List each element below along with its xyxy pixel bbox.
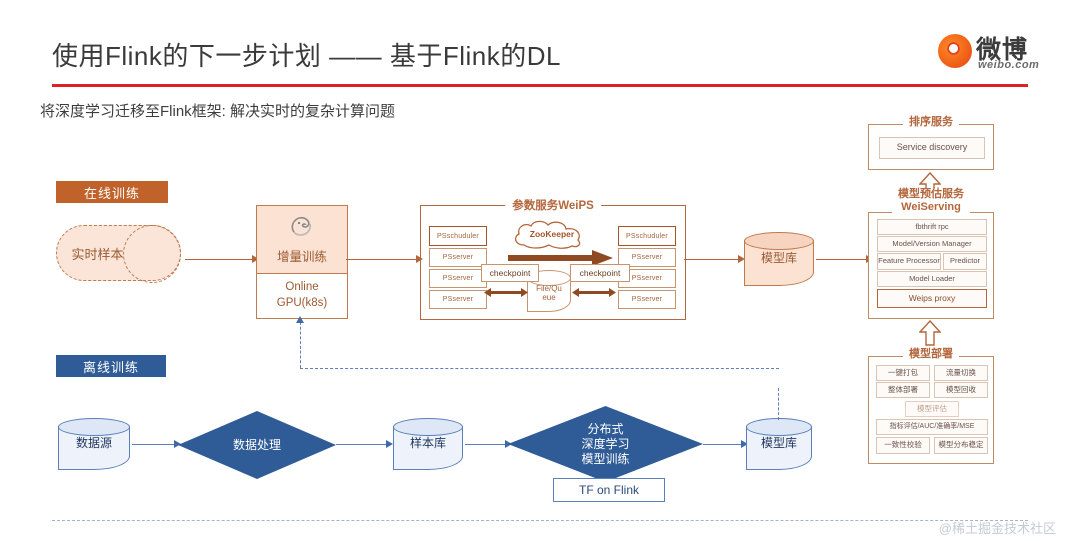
weiserving-row-version-manager: Model/Version Manager [877,236,987,252]
checkpoint-left-label: checkpoint [481,264,539,282]
model-deploy-panel: 模型部署 一键打包 流量切换 整体部署 模型回收 模型评估 指标评估/AUC/准… [868,356,994,464]
flink-squirrel-icon [287,214,317,240]
weiserving-panel: 模型预估服务 WeiServing fbthrift rpc Model/Ver… [868,212,994,319]
weips-group-label: 参数服务WeiPS [505,197,601,213]
slide-canvas: 使用Flink的下一步计划 —— 基于Flink的DL 将深度学习迁移至Flin… [0,0,1080,541]
arrow-weips-to-modelrepo [684,259,740,260]
distributed-training-label: 分布式 深度学习 模型训练 [508,406,703,482]
sample-repo-label: 样本库 [393,418,463,470]
deploy-row-model-eval: 模型评估 [905,401,959,417]
weiserving-row-model-loader: Model Loader [877,271,987,287]
tf-on-flink-box: TF on Flink [553,478,665,502]
ps-right-server-3: PSserver [618,290,676,309]
online-model-repository: 模型库 [744,232,814,286]
dashed-segment-up-to-gpu [300,322,301,368]
deploy-row-distribution: 模型分布稳定 [934,437,988,454]
arrow-process-to-samplerepo [336,444,388,445]
arrow-up-deploy-to-weiserving [919,320,941,346]
deploy-row-model-recycle: 模型回收 [934,382,988,398]
arrow-training-to-weips [346,259,418,260]
page-subtitle: 将深度学习迁移至Flink框架: 解决实时的复杂计算问题 [40,100,395,121]
badge-offline-training: 离线训练 [56,355,166,377]
arrowhead-process-to-samplerepo [386,440,393,448]
realtime-sample-store: 实时样本 [56,225,181,281]
incremental-training-box: 增量训练 [256,205,348,275]
zookeeper-label: ZooKeeper [508,217,596,251]
weiserving-row-predictor: Predictor [943,253,987,270]
data-source-store: 数据源 [58,418,130,470]
weibo-logo: 微博 weibo.com [938,28,1058,76]
weiserving-title: 模型预估服务 WeiServing [892,188,970,213]
ps-left-scheduler: PSschuduler [429,226,487,246]
weiserving-row-rpc: fbthrift rpc [877,219,987,235]
checkpoint-right-arrow [572,284,616,293]
badge-online-training: 在线训练 [56,181,168,203]
deploy-row-package: 一键打包 [876,365,930,381]
online-gpu-box: Online GPU(k8s) [256,273,348,319]
incremental-training-label: 增量训练 [257,244,347,266]
weiserving-row-weips-proxy: Weips proxy [877,289,987,308]
online-gpu-line2: GPU(k8s) [257,295,347,311]
deploy-row-metrics: 指标评估/AUC/准确率/MSE [876,419,988,435]
deploy-row-traffic-switch: 流量切换 [934,365,988,381]
deploy-row-consistency: 一致性校验 [876,437,930,454]
weibo-eye-icon [938,34,972,68]
logo-domain: weibo.com [978,59,1039,71]
online-model-repo-label: 模型库 [744,232,814,286]
distributed-training-node: 分布式 深度学习 模型训练 [508,406,703,482]
data-processing-node: 数据处理 [178,411,336,479]
watermark-label: @稀土掘金技术社区 [939,518,1056,537]
arrow-modelrepo-to-weiserving [816,259,870,260]
checkpoint-left-arrow [484,284,528,293]
data-source-label: 数据源 [58,418,130,470]
service-discovery-item: Service discovery [879,137,985,159]
arrow-source-to-process [132,444,176,445]
ranking-service-panel: 排序服务 Service discovery [868,124,994,170]
deploy-row-full-deploy: 整体部署 [876,382,930,398]
offline-model-repo-label: 模型库 [746,418,812,470]
training-line2: 深度学习 [581,437,629,452]
dashed-arrowhead-to-gpu [296,316,304,323]
weiserving-title-en: WeiServing [901,201,961,213]
ps-left-server-3: PSserver [429,290,487,309]
page-title: 使用Flink的下一步计划 —— 基于Flink的DL [52,36,561,73]
checkpoint-right-label: checkpoint [570,264,630,282]
training-line1: 分布式 [581,422,629,437]
ps-right-scheduler: PSschuduler [618,226,676,246]
dashed-segment-up-from-modelrepo [778,388,779,420]
online-gpu-line1: Online [257,279,347,295]
dashed-segment-horizontal [300,368,779,369]
arrow-samplerepo-to-training [465,444,507,445]
model-deploy-label: 模型部署 [903,348,959,361]
training-line3: 模型训练 [581,452,629,467]
weiserving-row-feature-processor: Feature Processor [877,253,941,270]
ps-left-server-1: PSserver [429,248,487,267]
data-processing-label: 数据处理 [178,411,336,479]
ps-left-server-2: PSserver [429,269,487,288]
ranking-service-label: 排序服务 [903,116,959,129]
fq-line2: eue [542,294,555,303]
sample-repository: 样本库 [393,418,463,470]
weiserving-title-cn: 模型预估服务 [898,188,964,200]
title-underline [52,84,1028,87]
offline-model-repository: 模型库 [746,418,812,470]
arrow-training-to-modelrepo [703,444,743,445]
realtime-sample-label: 实时样本 [56,225,181,281]
zookeeper-cloud: ZooKeeper [508,217,596,251]
arrow-sample-to-training [185,259,254,260]
footer-divider [52,520,1028,521]
